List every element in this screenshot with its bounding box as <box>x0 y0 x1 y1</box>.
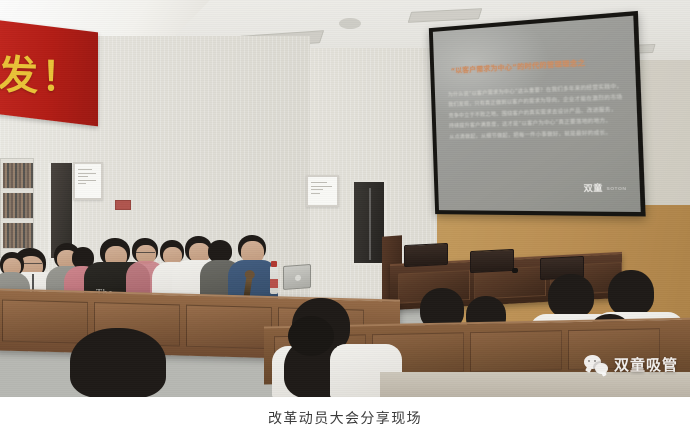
red-wall-sign <box>115 200 131 210</box>
table-panel <box>2 300 88 344</box>
shelf-books <box>3 193 33 219</box>
wall-notice-frame <box>73 162 103 200</box>
slide-logo-en: SOTON <box>606 185 626 191</box>
table-panel <box>186 305 272 349</box>
wechat-watermark: 双童吸管 <box>584 354 678 375</box>
dais-chair <box>470 249 514 273</box>
shelf-books <box>3 223 33 249</box>
water-bottle <box>270 266 278 294</box>
projector-screen-surface: “以客户需求为中心”的时代的管理理念之 为什么说“以客户需求为中心”这么重要？在… <box>433 16 641 212</box>
photo-caption: 改革动员大会分享现场 <box>268 408 422 428</box>
notice-lines <box>78 169 98 187</box>
floor <box>380 372 690 397</box>
meeting-photo: 发！ “以客户需求为中 <box>0 0 690 397</box>
bookshelf <box>0 158 34 258</box>
red-banner: 发！ <box>0 20 98 127</box>
slide-logo: 双童 SOTON <box>583 182 626 194</box>
slide-body: 为什么说“以客户需求为中心”这么重要？在我们多年来的经营实践中， 我们发现，只有… <box>448 81 627 143</box>
projector-screen: “以客户需求为中心”的时代的管理理念之 为什么说“以客户需求为中心”这么重要？在… <box>429 11 646 217</box>
watermark-account-name: 双童吸管 <box>614 354 678 375</box>
ceiling-dome-light-icon <box>339 18 361 29</box>
notice-lines <box>311 182 334 196</box>
banner-text: 发！ <box>0 42 94 103</box>
laptop <box>283 264 311 290</box>
wall-notice-frame <box>306 175 339 207</box>
table-panel <box>470 330 562 372</box>
dais-microphone-icon <box>512 268 518 273</box>
shelf-books <box>3 163 33 189</box>
photo-article-page: 发！ “以客户需求为中 <box>0 0 690 438</box>
wechat-icon <box>584 355 608 374</box>
dais-chair <box>404 243 448 267</box>
photo-caption-bar: 改革动员大会分享现场 <box>0 397 690 438</box>
doorway-middle <box>352 180 386 265</box>
wechat-bubble-small <box>595 363 608 374</box>
slide-logo-mark: 双童 <box>583 182 603 194</box>
